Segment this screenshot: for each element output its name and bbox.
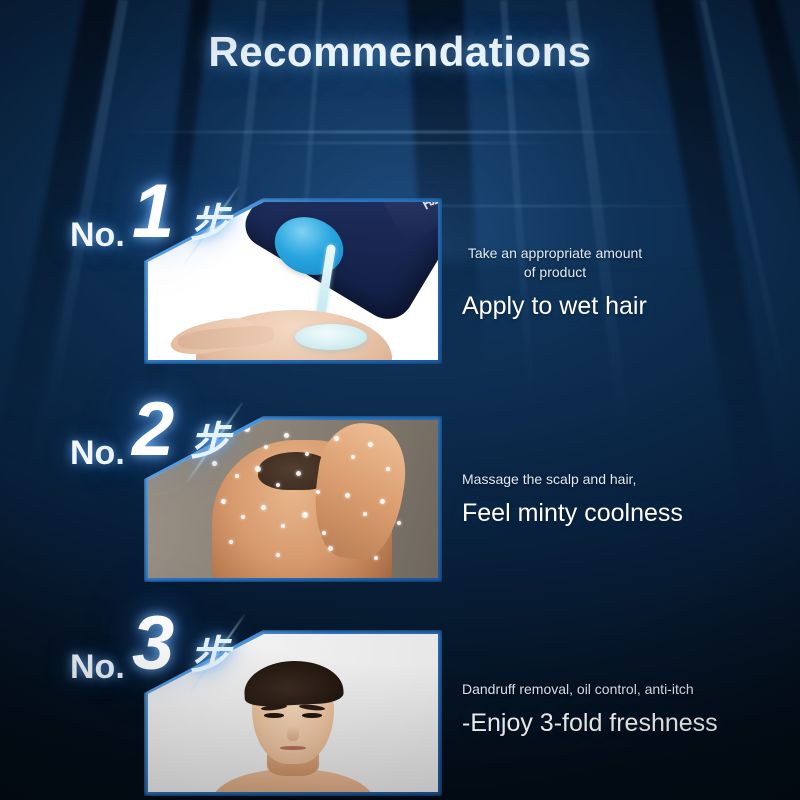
product-dispensing-illustration: 清爽控 bbox=[148, 202, 438, 360]
step-copy: Massage the scalp and hair, Feel minty c… bbox=[462, 470, 782, 531]
person-eye-right bbox=[302, 713, 322, 718]
step-copy: Dandruff removal, oil control, anti-itch… bbox=[462, 680, 782, 741]
horizon-bar bbox=[120, 131, 680, 133]
step-prefix: No. bbox=[70, 434, 125, 473]
step-image-panel[interactable] bbox=[148, 634, 438, 792]
step-number: 3 bbox=[132, 606, 174, 682]
step-number: 2 bbox=[132, 392, 174, 468]
step-headline: -Enjoy 3-fold freshness bbox=[462, 706, 782, 741]
recommendations-page: Recommendations 清爽控 No. bbox=[0, 0, 800, 800]
product-blob bbox=[295, 324, 367, 350]
page-title: Recommendations bbox=[208, 28, 591, 76]
shower-rinse-illustration bbox=[148, 420, 438, 578]
step-headline: Feel minty coolness bbox=[462, 496, 782, 531]
step-item: No. 2 步 Massage the scalp and hair, Feel… bbox=[0, 388, 800, 603]
step-subtitle: Massage the scalp and hair, bbox=[462, 470, 782, 489]
step-item: No. 3 步 Dandruff removal, oil control, a… bbox=[0, 602, 800, 800]
person-nose bbox=[287, 726, 299, 742]
step-copy: Take an appropriate amount of product Ap… bbox=[462, 244, 782, 324]
step-subtitle: Dandruff removal, oil control, anti-itch bbox=[462, 680, 782, 699]
person-mouth bbox=[280, 746, 306, 750]
horizon-bar bbox=[240, 142, 570, 144]
step-number: 1 bbox=[132, 174, 174, 250]
step-image-panel[interactable]: 清爽控 bbox=[148, 202, 438, 360]
step-item: 清爽控 No. 1 步 Take an appropriate amount o… bbox=[0, 170, 800, 385]
person-eye-left bbox=[264, 713, 284, 718]
water-spray bbox=[148, 420, 438, 578]
step-prefix: No. bbox=[70, 648, 125, 687]
bottle-label: 清爽控 bbox=[362, 202, 438, 245]
step-subtitle: Take an appropriate amount of product bbox=[462, 244, 648, 282]
clean-hair-portrait-illustration bbox=[148, 634, 438, 792]
page-header: Recommendations bbox=[0, 28, 800, 76]
step-prefix: No. bbox=[70, 216, 125, 255]
step-image-panel[interactable] bbox=[148, 420, 438, 578]
step-headline: Apply to wet hair bbox=[462, 289, 782, 324]
